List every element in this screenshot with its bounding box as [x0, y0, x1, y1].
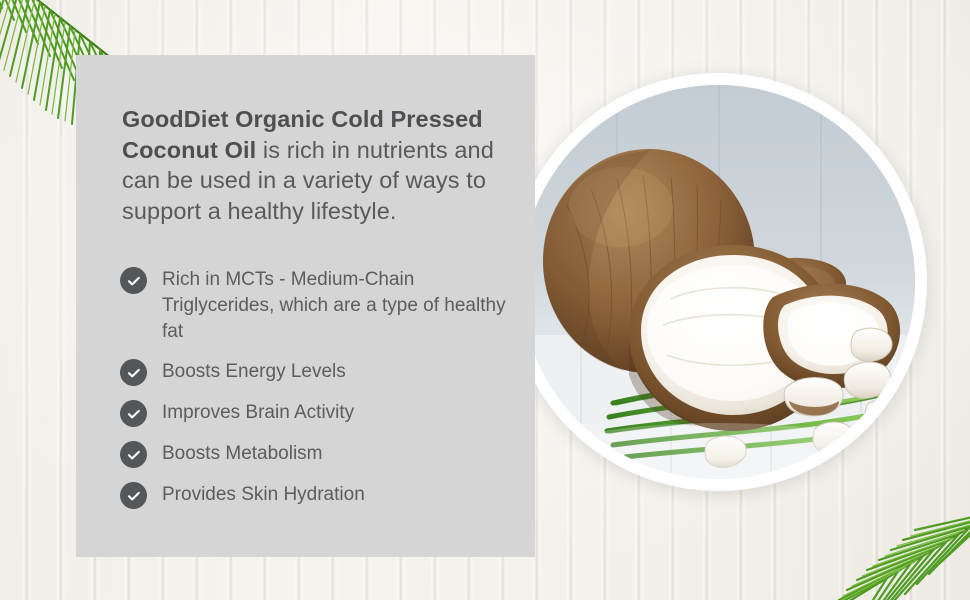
palm-frond-bottom-right-icon	[819, 490, 970, 600]
check-circle-icon	[120, 441, 147, 468]
check-circle-icon	[120, 267, 147, 294]
list-item: Rich in MCTs - Medium-Chain Triglyceride…	[120, 266, 520, 345]
list-item-label: Rich in MCTs - Medium-Chain Triglyceride…	[162, 266, 510, 345]
list-item-label: Boosts Metabolism	[162, 440, 323, 467]
list-item-label: Improves Brain Activity	[162, 399, 354, 426]
list-item: Provides Skin Hydration	[120, 481, 520, 509]
check-circle-icon	[120, 482, 147, 509]
check-circle-icon	[120, 400, 147, 427]
benefits-list: Rich in MCTs - Medium-Chain Triglyceride…	[120, 266, 520, 509]
list-item: Boosts Metabolism	[120, 440, 520, 468]
coconut-photo	[521, 85, 915, 479]
list-item-label: Provides Skin Hydration	[162, 481, 365, 508]
coconut-photo-frame	[509, 73, 927, 491]
poster-canvas: GoodDiet Organic Cold Pressed Coconut Oi…	[0, 0, 970, 600]
page-title: GoodDiet Organic Cold Pressed Coconut Oi…	[122, 104, 517, 226]
check-circle-icon	[120, 359, 147, 386]
list-item: Improves Brain Activity	[120, 399, 520, 427]
list-item-label: Boosts Energy Levels	[162, 358, 346, 385]
list-item: Boosts Energy Levels	[120, 358, 520, 386]
